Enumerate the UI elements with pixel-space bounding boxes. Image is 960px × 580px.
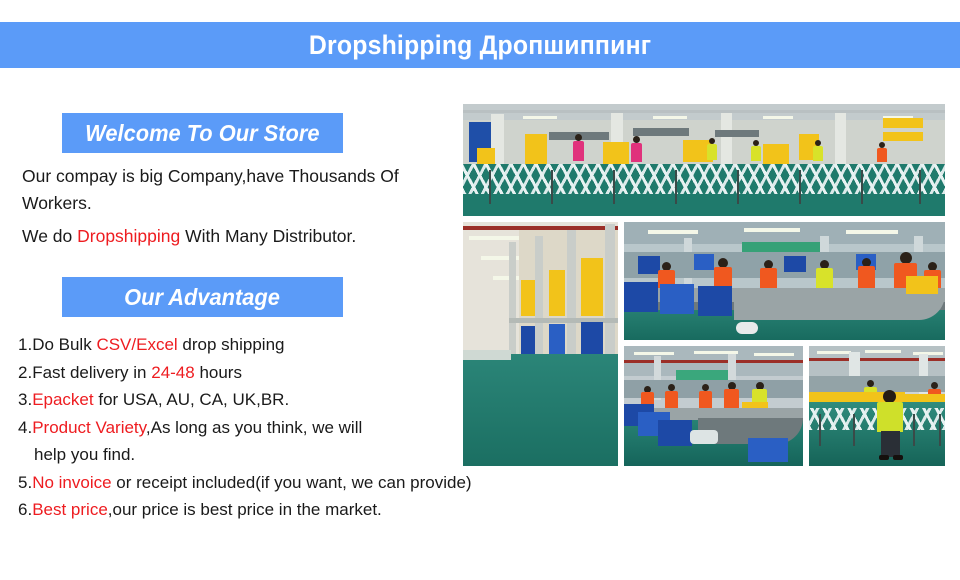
item-suffix: hours [195, 363, 242, 382]
item-number: 4. [18, 418, 32, 437]
item-suffix: ,our price is best price in the market. [108, 500, 382, 519]
item-highlight: No invoice [32, 473, 111, 492]
welcome-paragraphs: Our compay is big Company,have Thousands… [22, 163, 462, 250]
page-banner: Dropshipping Дропшиппинг [0, 22, 960, 68]
welcome-paragraph-2-prefix: We do [22, 226, 77, 246]
welcome-heading-box: Welcome To Our Store [62, 113, 343, 153]
left-content-column: Welcome To Our Store Our compay is big C… [0, 100, 462, 256]
photo-packing-line-overview [624, 346, 803, 466]
welcome-paragraph-2-highlight: Dropshipping [77, 226, 180, 246]
item-number: 5. [18, 473, 32, 492]
item-number: 3. [18, 390, 32, 409]
item-highlight: CSV/Excel [96, 335, 177, 354]
welcome-paragraph-2: We do Dropshipping With Many Distributor… [22, 223, 462, 250]
photo-warehouse-packing-floor-wide [463, 104, 945, 216]
welcome-paragraph-2-suffix: With Many Distributor. [180, 226, 356, 246]
item-highlight: 24-48 [151, 363, 194, 382]
list-item: 6.Best price,our price is best price in … [18, 496, 618, 524]
photo-worker-at-flexible-conveyor [809, 346, 945, 466]
photo-warehouse-racking-aisle [463, 222, 618, 466]
list-item: 5.No invoice or receipt included(if you … [18, 469, 618, 497]
item-suffix: drop shipping [178, 335, 285, 354]
item-suffix: or receipt included(if you want, we can … [112, 473, 472, 492]
advantage-heading-box: Our Advantage [62, 277, 343, 317]
item-suffix: ,As long as you think, we will [146, 418, 362, 437]
item-highlight: Best price [32, 500, 108, 519]
banner-title: Dropshipping Дропшиппинг [309, 30, 651, 61]
item-suffix: for USA, AU, CA, UK,BR. [94, 390, 290, 409]
advantage-section: Our Advantage 1.Do Bulk CSV/Excel drop s… [0, 277, 462, 524]
photo-sorting-conveyor-line [624, 222, 945, 340]
item-prefix: Fast delivery in [32, 363, 151, 382]
welcome-heading-text: Welcome To Our Store [85, 120, 319, 147]
item-number: 6. [18, 500, 32, 519]
item-highlight: Epacket [32, 390, 93, 409]
item-highlight: Product Variety [32, 418, 146, 437]
welcome-paragraph-1: Our compay is big Company,have Thousands… [22, 163, 462, 217]
photo-collage [463, 104, 945, 466]
advantage-heading-text: Our Advantage [125, 284, 281, 311]
item-number: 1. [18, 335, 32, 354]
item-prefix: Do Bulk [32, 335, 96, 354]
item-number: 2. [18, 363, 32, 382]
